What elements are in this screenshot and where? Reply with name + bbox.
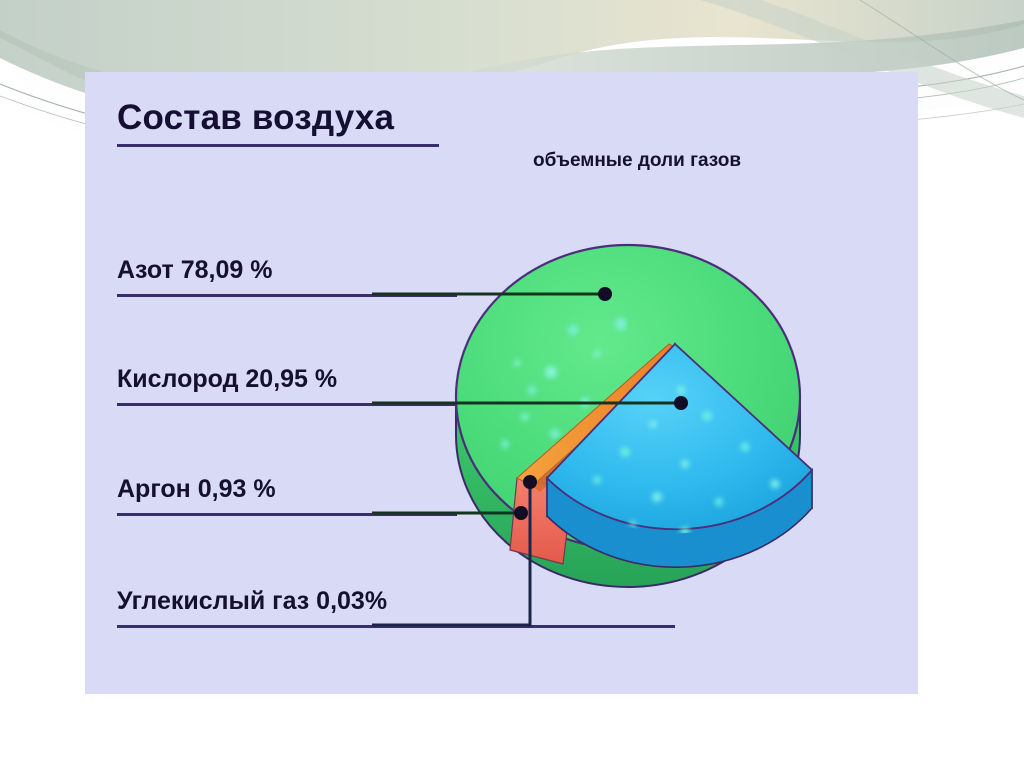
air-composition-pie-chart [85, 72, 918, 694]
leader-dot-carbon-dioxide [523, 475, 537, 489]
slide-canvas: Состав воздуха объемные доли газов Азот … [0, 0, 1024, 767]
leader-dot-nitrogen [598, 287, 612, 301]
content-panel: Состав воздуха объемные доли газов Азот … [85, 72, 918, 694]
leader-dot-oxygen [674, 396, 688, 410]
leader-dot-argon [514, 506, 528, 520]
